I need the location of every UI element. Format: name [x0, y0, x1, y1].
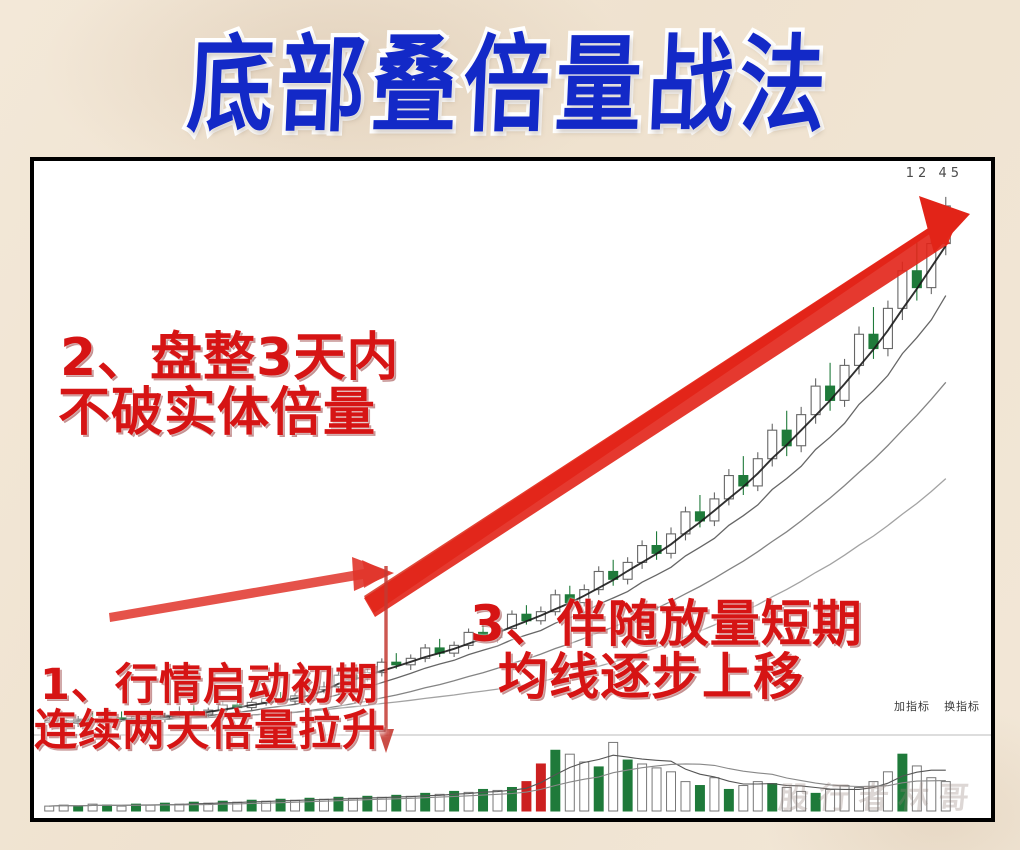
- price-readout: 12 45: [906, 166, 963, 181]
- change-indicator-button[interactable]: 换指标: [944, 701, 980, 713]
- indicator-toolbar[interactable]: 加指标 换指标: [894, 698, 990, 714]
- stock-chart-panel[interactable]: 12 45 加指标 换指标 股行者林哥: [30, 157, 995, 822]
- chart-canvas: 12 45 加指标 换指标 股行者林哥: [34, 161, 991, 818]
- annotation-arrows-layer: [34, 161, 991, 818]
- small-trend-arrow-icon: [109, 557, 394, 622]
- add-indicator-button[interactable]: 加指标: [894, 701, 930, 713]
- big-trend-arrow-icon: [364, 196, 970, 617]
